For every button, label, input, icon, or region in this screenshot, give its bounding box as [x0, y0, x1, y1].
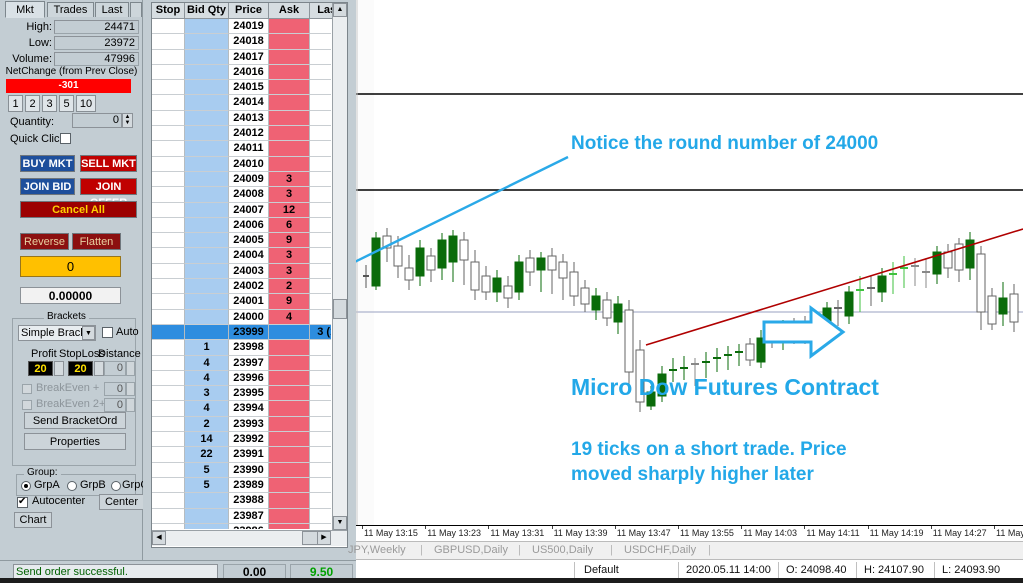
annotation-description-line1: 19 ticks on a short trade. Price	[571, 437, 847, 462]
axis-tick-label: 11 May 14:35	[996, 528, 1023, 538]
autocenter-checkbox[interactable]	[17, 497, 28, 508]
qty-preset-3[interactable]: 3	[42, 95, 57, 112]
ladder-cell-stop[interactable]	[152, 19, 185, 34]
ladder-cell-last[interactable]	[310, 279, 331, 294]
ladder-cell-price[interactable]: 24006	[229, 218, 269, 233]
ladder-cell-last[interactable]	[310, 50, 331, 65]
ladder-cell-last[interactable]: 3 (1)	[310, 325, 331, 340]
ladder-cell-stop[interactable]	[152, 493, 185, 508]
chart-button[interactable]: Chart	[14, 512, 52, 528]
axis-tick-mark	[488, 526, 489, 529]
ladder-cell-stop[interactable]	[152, 111, 185, 126]
auto-checkbox[interactable]	[102, 327, 113, 338]
ladder-cell-stop[interactable]	[152, 463, 185, 478]
chart-canvas[interactable]: Notice the round number of 24000 Micro D…	[356, 0, 1023, 525]
ladder-cell-stop[interactable]	[152, 141, 185, 156]
trading-platform-screenshot: Mkt Trades Last High: 24471 Low: 23972 V…	[0, 0, 1023, 583]
ladder-row[interactable]: 240019	[152, 294, 331, 309]
ladder-cell-ask-qty[interactable]	[269, 50, 310, 65]
ladder-row[interactable]: 24015	[152, 80, 331, 95]
ladder-row[interactable]: 240033	[152, 264, 331, 279]
axis-tick-label: 11 May 13:23	[427, 528, 481, 538]
ladder-cell-bid-qty[interactable]: 4	[185, 371, 229, 386]
ladder-cell-bid-qty[interactable]	[185, 233, 229, 248]
ladder-cell-ask-qty[interactable]	[269, 126, 310, 141]
tab-blank[interactable]	[130, 2, 142, 17]
quantity-input[interactable]: 0	[72, 113, 122, 128]
stoploss-input[interactable]: 20	[68, 361, 93, 376]
ladder-cell-price[interactable]: 23991	[229, 447, 269, 462]
ladder-cell-last[interactable]	[310, 126, 331, 141]
ladder-cell-bid-qty[interactable]	[185, 34, 229, 49]
ladder-cell-price[interactable]: 24011	[229, 141, 269, 156]
ladder-cell-stop[interactable]	[152, 325, 185, 340]
ladder-row[interactable]: 1423992	[152, 432, 331, 447]
ladder-cell-ask-qty[interactable]	[269, 371, 310, 386]
qty-preset-5[interactable]: 5	[59, 95, 74, 112]
ladder-cell-price[interactable]: 23986	[229, 524, 269, 529]
ladder-cell-ask-qty[interactable]	[269, 463, 310, 478]
scroll-down-icon[interactable]: ▼	[333, 516, 347, 530]
ladder-row[interactable]: 240043	[152, 248, 331, 263]
ladder-cell-stop[interactable]	[152, 50, 185, 65]
dom-horizontal-scrollbar[interactable]: ◀ ▶	[152, 530, 347, 546]
ladder-cell-ask-qty[interactable]: 9	[269, 233, 310, 248]
ladder-cell-price[interactable]: 23997	[229, 356, 269, 371]
ladder-cell-ask-qty[interactable]	[269, 447, 310, 462]
ladder-row[interactable]: 240022	[152, 279, 331, 294]
chart-tab-2[interactable]: US500,Daily	[532, 544, 593, 556]
ladder-cell-bid-qty[interactable]: 3	[185, 386, 229, 401]
center-button[interactable]: Center	[99, 494, 144, 510]
reverse-button[interactable]: Reverse	[20, 233, 69, 250]
chart-tab-separator: |	[708, 544, 711, 556]
ladder-row[interactable]: 2223991	[152, 447, 331, 462]
sell-market-button[interactable]: SELL MKT	[80, 155, 137, 172]
join-bid-button[interactable]: JOIN BID	[20, 178, 75, 195]
ladder-cell-ask-qty[interactable]	[269, 493, 310, 508]
ladder-cell-last[interactable]	[310, 371, 331, 386]
chart-tab-separator: |	[420, 544, 423, 556]
ladder-cell-last[interactable]	[310, 233, 331, 248]
ladder-cell-price[interactable]: 24005	[229, 233, 269, 248]
ladder-cell-last[interactable]	[310, 19, 331, 34]
ladder-row[interactable]: 123998	[152, 340, 331, 355]
ladder-cell-bid-qty[interactable]	[185, 294, 229, 309]
distance-stepper[interactable]	[126, 361, 135, 376]
ladder-cell-stop[interactable]	[152, 233, 185, 248]
ladder-cell-price[interactable]: 24018	[229, 34, 269, 49]
ladder-cell-last[interactable]	[310, 356, 331, 371]
ladder-cell-ask-qty[interactable]	[269, 432, 310, 447]
ladder-cell-last[interactable]	[310, 493, 331, 508]
ladder-cell-bid-qty[interactable]	[185, 187, 229, 202]
profit-stepper[interactable]	[54, 361, 64, 376]
group-radio-grpb[interactable]	[67, 481, 77, 491]
ladder-cell-ask-qty[interactable]: 3	[269, 187, 310, 202]
ladder-cell-bid-qty[interactable]	[185, 325, 229, 340]
ladder-row[interactable]: 24012	[152, 126, 331, 141]
ladder-cell-price[interactable]: 24012	[229, 126, 269, 141]
ladder-cell-bid-qty[interactable]: 4	[185, 401, 229, 416]
ladder-cell-stop[interactable]	[152, 401, 185, 416]
ladder-cell-price[interactable]: 23999	[229, 325, 269, 340]
ladder-row[interactable]: 323995	[152, 386, 331, 401]
ladder-cell-last[interactable]	[310, 509, 331, 524]
ladder-cell-ask-qty[interactable]	[269, 386, 310, 401]
auto-label: Auto	[116, 326, 139, 338]
ladder-cell-price[interactable]: 24008	[229, 187, 269, 202]
ladder-cell-last[interactable]	[310, 203, 331, 218]
ladder-cell-last[interactable]	[310, 80, 331, 95]
ladder-cell-bid-qty[interactable]	[185, 80, 229, 95]
ladder-cell-stop[interactable]	[152, 264, 185, 279]
ladder-row[interactable]: 240059	[152, 233, 331, 248]
ladder-cell-bid-qty[interactable]	[185, 279, 229, 294]
ladder-row[interactable]: 240083	[152, 187, 331, 202]
ladder-row[interactable]: 24011	[152, 141, 331, 156]
status-low: L: 24093.90	[942, 564, 1000, 576]
ladder-cell-bid-qty[interactable]	[185, 493, 229, 508]
ladder-cell-stop[interactable]	[152, 432, 185, 447]
ladder-cell-last[interactable]	[310, 432, 331, 447]
ladder-cell-stop[interactable]	[152, 65, 185, 80]
ladder-cell-last[interactable]	[310, 310, 331, 325]
ladder-cell-price[interactable]: 24017	[229, 50, 269, 65]
ladder-cell-price[interactable]: 24016	[229, 65, 269, 80]
ladder-cell-bid-qty[interactable]	[185, 524, 229, 529]
scroll-up-icon[interactable]: ▲	[333, 3, 347, 17]
stoploss-stepper[interactable]	[94, 361, 104, 376]
ladder-cell-price[interactable]: 24019	[229, 19, 269, 34]
stat-row-high: High: 24471	[4, 20, 139, 35]
ladder-cell-bid-qty[interactable]	[185, 157, 229, 172]
ladder-cell-bid-qty[interactable]: 22	[185, 447, 229, 462]
column-header-ask-qty[interactable]: Ask Qty	[269, 3, 310, 19]
axis-tick-mark	[425, 526, 426, 529]
ladder-cell-bid-qty[interactable]	[185, 65, 229, 80]
ladder-cell-bid-qty[interactable]	[185, 126, 229, 141]
breakeven2-stepper[interactable]	[126, 398, 135, 412]
ladder-row[interactable]: 423994	[152, 401, 331, 416]
ladder-row[interactable]: 2400712	[152, 203, 331, 218]
stat-row-volume: Volume: 47996	[4, 52, 139, 67]
netchange-value: -301	[6, 79, 131, 93]
ladder-cell-bid-qty[interactable]	[185, 203, 229, 218]
ladder-cell-ask-qty[interactable]	[269, 417, 310, 432]
axis-tick-label: 11 May 14:27	[933, 528, 987, 538]
column-header-price[interactable]: Price	[229, 3, 269, 19]
ladder-cell-stop[interactable]	[152, 34, 185, 49]
ladder-cell-stop[interactable]	[152, 95, 185, 110]
ladder-cell-price[interactable]: 24000	[229, 310, 269, 325]
scroll-right-icon[interactable]: ▶	[317, 531, 331, 545]
ladder-cell-ask-qty[interactable]	[269, 95, 310, 110]
ladder-cell-stop[interactable]	[152, 218, 185, 233]
ladder-cell-ask-qty[interactable]: 3	[269, 264, 310, 279]
ladder-row[interactable]: 23986	[152, 524, 331, 529]
ladder-cell-ask-qty[interactable]	[269, 356, 310, 371]
ladder-cell-bid-qty[interactable]	[185, 509, 229, 524]
ladder-row[interactable]: 423997	[152, 356, 331, 371]
ladder-cell-bid-qty[interactable]	[185, 111, 229, 126]
ladder-cell-stop[interactable]	[152, 279, 185, 294]
ladder-cell-stop[interactable]	[152, 294, 185, 309]
tab-last[interactable]: Last	[95, 2, 129, 17]
chart-time-axis: 11 May 13:1511 May 13:2311 May 13:3111 M…	[356, 525, 1023, 541]
ladder-cell-price[interactable]: 24001	[229, 294, 269, 309]
chart-tab-1[interactable]: GBPUSD,Daily	[434, 544, 508, 556]
ladder-row[interactable]: 24018	[152, 34, 331, 49]
status-divider	[934, 562, 935, 579]
ladder-cell-stop[interactable]	[152, 80, 185, 95]
column-header-stop[interactable]: Stop	[152, 3, 185, 19]
ladder-row[interactable]: 240004	[152, 310, 331, 325]
send-bracket-order-button[interactable]: Send BracketOrd	[24, 412, 126, 429]
ladder-cell-last[interactable]	[310, 478, 331, 493]
ladder-cell-bid-qty[interactable]	[185, 248, 229, 263]
ladder-row[interactable]: 523989	[152, 478, 331, 493]
ladder-cell-last[interactable]	[310, 447, 331, 462]
scroll-left-icon[interactable]: ◀	[152, 531, 166, 545]
ladder-cell-price[interactable]: 24007	[229, 203, 269, 218]
ladder-cell-stop[interactable]	[152, 478, 185, 493]
position-quantity-display: 0	[20, 256, 121, 277]
distance-column-label: Distance	[98, 348, 141, 360]
chart-tab-separator: |	[518, 544, 521, 556]
ladder-row[interactable]: 24010	[152, 157, 331, 172]
ladder-cell-last[interactable]	[310, 187, 331, 202]
ladder-row[interactable]: 24016	[152, 65, 331, 80]
ladder-cell-last[interactable]	[310, 141, 331, 156]
chevron-down-icon[interactable]: ▼	[82, 326, 95, 340]
ladder-cell-stop[interactable]	[152, 509, 185, 524]
ladder-row[interactable]: 24019	[152, 19, 331, 34]
ladder-cell-ask-qty[interactable]: 3	[269, 248, 310, 263]
column-header-bid-qty[interactable]: Bid Qty	[185, 3, 229, 19]
ladder-cell-price[interactable]: 23992	[229, 432, 269, 447]
ladder-cell-ask-qty[interactable]	[269, 65, 310, 80]
ladder-cell-stop[interactable]	[152, 371, 185, 386]
quantity-stepper[interactable]: ▲ ▼	[122, 113, 133, 128]
vertical-scrollbar-thumb[interactable]	[333, 299, 347, 319]
ladder-cell-last[interactable]	[310, 157, 331, 172]
ladder-cell-ask-qty[interactable]	[269, 401, 310, 416]
axis-tick-mark	[804, 526, 805, 529]
ladder-cell-stop[interactable]	[152, 340, 185, 355]
ladder-cell-last[interactable]	[310, 248, 331, 263]
ladder-cell-bid-qty[interactable]: 14	[185, 432, 229, 447]
ladder-cell-stop[interactable]	[152, 172, 185, 187]
ladder-cell-ask-qty[interactable]	[269, 340, 310, 355]
ladder-cell-price[interactable]: 23990	[229, 463, 269, 478]
tab-mkt[interactable]: Mkt	[5, 1, 45, 18]
ladder-cell-price[interactable]: 24015	[229, 80, 269, 95]
ladder-cell-last[interactable]	[310, 401, 331, 416]
ladder-cell-stop[interactable]	[152, 187, 185, 202]
ladder-cell-bid-qty[interactable]	[185, 50, 229, 65]
ladder-cell-ask-qty[interactable]	[269, 111, 310, 126]
ladder-cell-ask-qty[interactable]	[269, 157, 310, 172]
tab-mkt-label: Mkt	[16, 4, 34, 16]
quickclick-label: Quick Click	[10, 133, 65, 145]
ladder-cell-last[interactable]	[310, 218, 331, 233]
ladder-cell-price[interactable]: 23989	[229, 478, 269, 493]
ladder-cell-last[interactable]	[310, 417, 331, 432]
ladder-cell-stop[interactable]	[152, 157, 185, 172]
profit-input[interactable]: 20	[28, 361, 53, 376]
ladder-cell-ask-qty[interactable]	[269, 34, 310, 49]
ladder-cell-price[interactable]: 23987	[229, 509, 269, 524]
breakeven-checkbox[interactable]	[22, 384, 32, 394]
ladder-cell-ask-qty[interactable]	[269, 325, 310, 340]
distance-input[interactable]: 0	[104, 361, 126, 376]
stat-value-volume: 47996	[54, 52, 139, 66]
ladder-cell-bid-qty[interactable]	[185, 19, 229, 34]
ladder-cell-bid-qty[interactable]	[185, 310, 229, 325]
chart-tab-3[interactable]: USDCHF,Daily	[624, 544, 696, 556]
ladder-cell-bid-qty[interactable]	[185, 141, 229, 156]
ladder-cell-price[interactable]: 24013	[229, 111, 269, 126]
status-divider	[856, 562, 857, 579]
ladder-cell-last[interactable]	[310, 34, 331, 49]
breakeven-stepper[interactable]	[126, 382, 135, 396]
ladder-cell-price[interactable]: 24003	[229, 264, 269, 279]
ladder-cell-last[interactable]	[310, 340, 331, 355]
group-radio-grpa[interactable]	[21, 481, 31, 491]
ladder-cell-stop[interactable]	[152, 417, 185, 432]
ladder-cell-bid-qty[interactable]: 4	[185, 356, 229, 371]
qty-preset-10[interactable]: 10	[76, 95, 96, 112]
ladder-cell-ask-qty[interactable]	[269, 80, 310, 95]
ladder-cell-price[interactable]: 24010	[229, 157, 269, 172]
axis-tick-label: 11 May 14:11	[806, 528, 859, 538]
status-profile: Default	[584, 564, 619, 576]
properties-button[interactable]: Properties	[24, 433, 126, 450]
ladder-row[interactable]: 24014	[152, 95, 331, 110]
breakeven2-input[interactable]: 0	[104, 398, 126, 412]
ladder-cell-last[interactable]	[310, 95, 331, 110]
ladder-cell-price[interactable]: 24014	[229, 95, 269, 110]
ladder-cell-price[interactable]: 23993	[229, 417, 269, 432]
ladder-cell-last[interactable]	[310, 294, 331, 309]
ladder-cell-stop[interactable]	[152, 524, 185, 529]
ladder-cell-price[interactable]: 23994	[229, 401, 269, 416]
ladder-cell-stop[interactable]	[152, 310, 185, 325]
ladder-cell-price[interactable]: 23996	[229, 371, 269, 386]
group-radio-grpc[interactable]	[111, 481, 121, 491]
ladder-row[interactable]: 24017	[152, 50, 331, 65]
ladder-cell-ask-qty[interactable]	[269, 524, 310, 529]
tab-trades-label: Trades	[54, 4, 88, 16]
ladder-row[interactable]: 423996	[152, 371, 331, 386]
axis-tick-label: 11 May 13:39	[554, 528, 608, 538]
chart-panel: Notice the round number of 24000 Micro D…	[356, 0, 1023, 583]
ladder-row[interactable]: 240093	[152, 172, 331, 187]
breakeven2-checkbox[interactable]	[22, 400, 32, 410]
ladder-cell-last[interactable]	[310, 65, 331, 80]
ladder-cell-last[interactable]	[310, 463, 331, 478]
ladder-row[interactable]: 23988	[152, 493, 331, 508]
ladder-row[interactable]: 240066	[152, 218, 331, 233]
ladder-cell-ask-qty[interactable]: 3	[269, 172, 310, 187]
ladder-cell-price[interactable]: 23998	[229, 340, 269, 355]
ladder-cell-price[interactable]: 24002	[229, 279, 269, 294]
ladder-cell-stop[interactable]	[152, 356, 185, 371]
ladder-row[interactable]: 223993	[152, 417, 331, 432]
ladder-cell-bid-qty[interactable]	[185, 95, 229, 110]
tab-last-label: Last	[102, 4, 123, 16]
axis-tick-mark	[868, 526, 869, 529]
tab-trades[interactable]: Trades	[47, 2, 94, 17]
ladder-cell-bid-qty[interactable]: 5	[185, 478, 229, 493]
ladder-cell-ask-qty[interactable]: 4	[269, 310, 310, 325]
ladder-cell-ask-qty[interactable]: 9	[269, 294, 310, 309]
quantity-stepper-down[interactable]: ▼	[123, 120, 132, 126]
ladder-row[interactable]: 523990	[152, 463, 331, 478]
ladder-cell-ask-qty[interactable]	[269, 509, 310, 524]
ladder-cell-price[interactable]: 23988	[229, 493, 269, 508]
ladder-cell-last[interactable]	[310, 386, 331, 401]
dom-vertical-scrollbar[interactable]: ▲ ▼	[332, 3, 347, 530]
ladder-cell-ask-qty[interactable]: 6	[269, 218, 310, 233]
ladder-cell-ask-qty[interactable]	[269, 478, 310, 493]
ladder-cell-ask-qty[interactable]: 2	[269, 279, 310, 294]
ladder-cell-bid-qty[interactable]	[185, 218, 229, 233]
annotation-round-number: Notice the round number of 24000	[571, 133, 878, 155]
ladder-cell-ask-qty[interactable]: 12	[269, 203, 310, 218]
dom-ladder: Stop Bid Qty Price Ask Qty Last 24019240…	[151, 2, 348, 548]
qty-preset-2[interactable]: 2	[25, 95, 40, 112]
annotation-description: 19 ticks on a short trade. Price moved s…	[571, 437, 847, 487]
ladder-cell-ask-qty[interactable]	[269, 19, 310, 34]
ladder-row[interactable]: 239993 (1)	[152, 325, 331, 340]
ladder-cell-stop[interactable]	[152, 447, 185, 462]
ladder-cell-price[interactable]: 24004	[229, 248, 269, 263]
join-offer-button[interactable]: JOIN OFFER	[80, 178, 137, 195]
breakeven-input[interactable]: 0	[104, 382, 126, 396]
ladder-cell-last[interactable]	[310, 264, 331, 279]
ladder-cell-stop[interactable]	[152, 248, 185, 263]
ladder-cell-last[interactable]	[310, 172, 331, 187]
axis-tick-label: 11 May 13:31	[490, 528, 544, 538]
ladder-cell-price[interactable]: 23995	[229, 386, 269, 401]
chart-tab-0[interactable]: JPY,Weekly	[348, 544, 406, 556]
ladder-cell-stop[interactable]	[152, 126, 185, 141]
axis-tick-label: 11 May 14:19	[870, 528, 924, 538]
ladder-cell-bid-qty[interactable]	[185, 264, 229, 279]
ladder-cell-ask-qty[interactable]	[269, 141, 310, 156]
axis-tick-mark	[931, 526, 932, 529]
breakeven-label: BreakEven +	[36, 382, 99, 394]
ladder-cell-stop[interactable]	[152, 386, 185, 401]
ladder-cell-bid-qty[interactable]: 5	[185, 463, 229, 478]
ladder-cell-last[interactable]	[310, 524, 331, 529]
ladder-cell-bid-qty[interactable]: 2	[185, 417, 229, 432]
quickclick-checkbox[interactable]	[60, 133, 71, 144]
ladder-cell-bid-qty[interactable]	[185, 172, 229, 187]
cancel-all-button[interactable]: Cancel All	[20, 201, 137, 218]
flatten-button[interactable]: Flatten	[72, 233, 121, 250]
buy-market-button[interactable]: BUY MKT	[20, 155, 75, 172]
ladder-cell-last[interactable]	[310, 111, 331, 126]
ladder-cell-price[interactable]: 24009	[229, 172, 269, 187]
ladder-cell-bid-qty[interactable]: 1	[185, 340, 229, 355]
qty-preset-1[interactable]: 1	[8, 95, 23, 112]
ladder-row[interactable]: 23987	[152, 509, 331, 524]
ladder-row[interactable]: 24013	[152, 111, 331, 126]
ladder-cell-stop[interactable]	[152, 203, 185, 218]
